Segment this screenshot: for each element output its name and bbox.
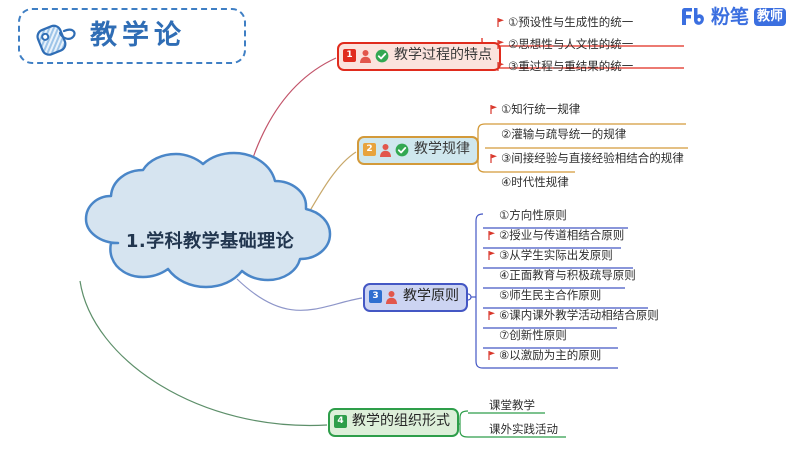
leaf-label: ②灌输与疏导统一的规律 [501, 128, 626, 142]
leaf-item[interactable]: ③间接经验与直接经验相结合的规律 [490, 152, 684, 166]
leaf-label: ①知行统一规律 [501, 103, 580, 117]
leaf-item[interactable]: ④时代性规律 [490, 176, 569, 190]
leaf-label: ③重过程与重结果的统一 [508, 60, 633, 74]
leaf-item[interactable]: ④正面教育与积极疏导原则 [488, 269, 636, 283]
branch-node-3[interactable]: 3 教学原则 [363, 283, 468, 312]
leaf-item[interactable]: ②思想性与人文性的统一 [497, 38, 633, 52]
flag-icon [490, 105, 498, 114]
leaf-item[interactable]: ⑦创新性原则 [488, 329, 567, 343]
leaf-label: ③从学生实际出发原则 [499, 249, 613, 263]
branch-node-2[interactable]: 2 教学规律 [357, 136, 479, 165]
branch-2-label: 教学规律 [414, 141, 470, 159]
flag-icon [488, 351, 496, 360]
leaf-item[interactable]: ⑧以激励为主的原则 [488, 349, 601, 363]
leaf-label: ⑧以激励为主的原则 [499, 349, 601, 363]
leaf-label: ⑤师生民主合作原则 [499, 289, 601, 303]
person-icon [385, 290, 398, 304]
flag-icon [497, 62, 505, 71]
leaf-item[interactable]: ①方向性原则 [488, 209, 567, 223]
flag-icon [488, 251, 496, 260]
leaf-label: ②授业与传道相结合原则 [499, 229, 624, 243]
leaf-label: ②思想性与人文性的统一 [508, 38, 633, 52]
branch-2-number: 2 [363, 143, 376, 156]
branch-4-number: 4 [334, 415, 347, 428]
leaf-label: ③间接经验与直接经验相结合的规律 [501, 152, 684, 166]
branch-node-4[interactable]: 4 教学的组织形式 [328, 408, 459, 437]
branch-1-label: 教学过程的特点 [394, 47, 492, 65]
branch-4-label: 教学的组织形式 [352, 413, 450, 431]
leaf-item[interactable]: ③从学生实际出发原则 [488, 249, 613, 263]
leaf-label: ⑦创新性原则 [499, 329, 567, 343]
page-title: 教学论 [90, 22, 186, 49]
brand-sub-label: 教师 [754, 8, 786, 27]
leaf-label: 课堂教学 [489, 399, 535, 413]
center-node[interactable]: 1.学科教学基础理论 [62, 186, 352, 294]
leaf-item[interactable]: ②授业与传道相结合原则 [488, 229, 624, 243]
leaf-label: ①方向性原则 [499, 209, 567, 223]
leaf-item[interactable]: ①知行统一规律 [490, 103, 580, 117]
leaf-item[interactable]: ②灌输与疏导统一的规律 [490, 128, 626, 142]
flag-icon [490, 154, 498, 163]
leaf-label: ④时代性规律 [501, 176, 569, 190]
brand-name: 粉笔 [711, 8, 749, 27]
center-node-label: 1.学科教学基础理论 [62, 186, 352, 294]
leaf-item[interactable]: ①预设性与生成性的统一 [497, 16, 633, 30]
branch-3-label: 教学原则 [403, 288, 459, 306]
flag-icon [497, 18, 505, 27]
leaf-label: ⑥课内课外教学活动相结合原则 [499, 309, 659, 323]
header-badge: 教学论 [18, 8, 246, 64]
leaf-item[interactable]: ⑤师生民主合作原则 [488, 289, 601, 303]
check-icon [395, 143, 409, 157]
flag-icon [488, 311, 496, 320]
person-icon [379, 143, 392, 157]
leaf-item[interactable]: 课堂教学 [478, 399, 535, 413]
leaf-label: 课外实践活动 [489, 423, 558, 437]
leaf-item[interactable]: ⑥课内课外教学活动相结合原则 [488, 309, 659, 323]
flag-icon [497, 40, 505, 49]
check-icon [375, 49, 389, 63]
brand-logo: 粉笔 教师 [680, 7, 786, 27]
mindmap-canvas: 教学论 粉笔 教师 1.学科教学基础理论 1 教学过程的特点 2 [0, 0, 800, 450]
leaf-label: ①预设性与生成性的统一 [508, 16, 633, 30]
branch-3-number: 3 [369, 290, 382, 303]
person-icon [359, 49, 372, 63]
branch-1-number: 1 [343, 49, 356, 62]
leaf-label: ④正面教育与积极疏导原则 [499, 269, 636, 283]
tag-icon [34, 16, 80, 56]
branch-node-1[interactable]: 1 教学过程的特点 [337, 42, 501, 71]
fb-logo-icon [680, 7, 706, 27]
leaf-item[interactable]: 课外实践活动 [478, 423, 558, 437]
flag-icon [488, 231, 496, 240]
leaf-item[interactable]: ③重过程与重结果的统一 [497, 60, 633, 74]
